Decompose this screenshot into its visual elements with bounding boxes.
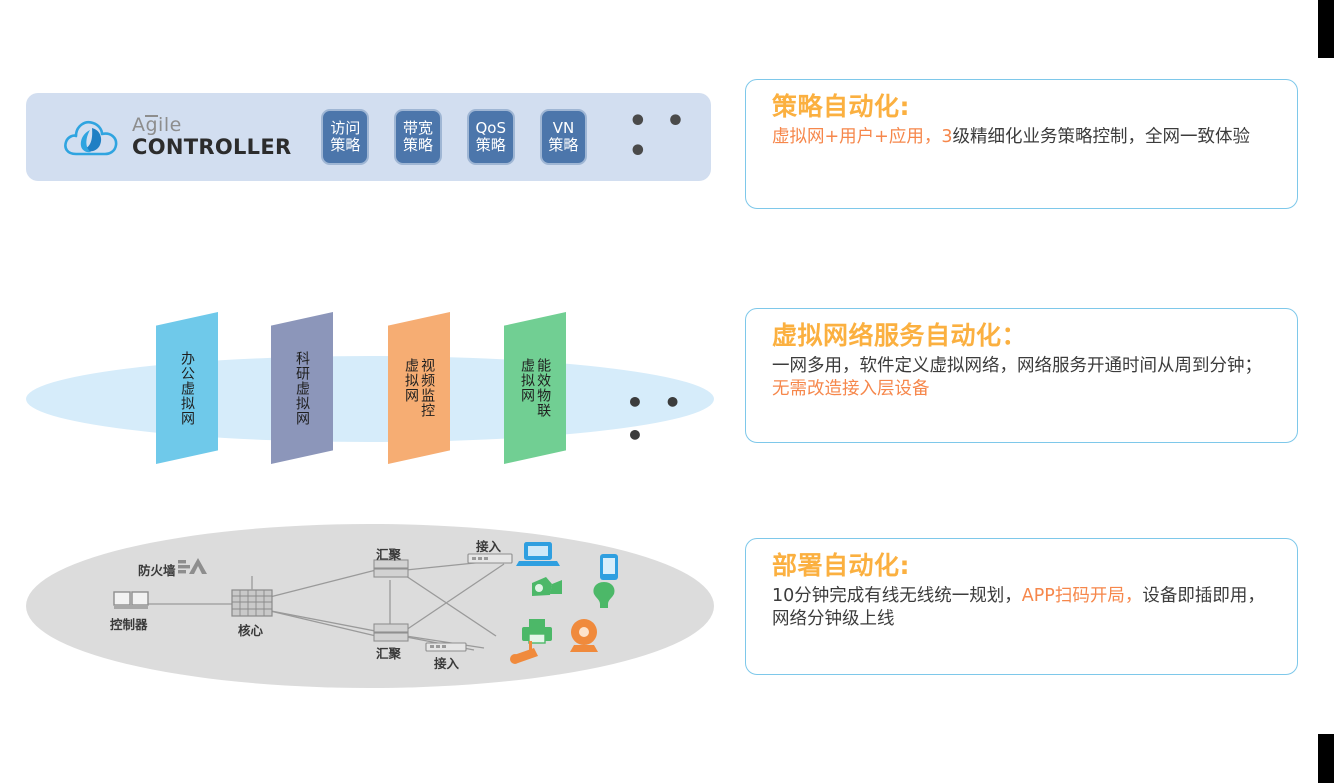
laptop-icon: [516, 542, 560, 566]
policy-box-vn-line2: 策略: [548, 137, 578, 154]
agile-controller-banner: Agile CONTROLLER 访问 策略 带宽 策略 QoS 策略: [26, 93, 711, 181]
card-virtual-network-automation: 虚拟网络服务自动化： 一网多用，软件定义虚拟网络，网络服务开通时间从周到分钟；无…: [745, 308, 1298, 443]
card-virtual-network-automation-body-rest: 一网多用，软件定义虚拟网络，网络服务开通时间从周到分钟；: [772, 356, 1262, 376]
right-edge-bar-top: [1318, 0, 1334, 58]
firewall-icon: [178, 558, 207, 574]
camera-icon: [532, 577, 562, 596]
right-edge-bar-bottom: [1318, 734, 1334, 783]
policy-box-qos-line1: QoS: [475, 120, 506, 137]
policy-box-vn[interactable]: VN 策略: [540, 109, 588, 165]
core-switch-icon: [232, 576, 272, 616]
policy-more-dots: • • •: [628, 107, 711, 167]
topology-label-firewall: 防火墙: [138, 560, 176, 579]
card-deployment-automation-body: 10分钟完成有线无线统一规划，APP扫码开局，设备即插即用，网络分钟级上线: [772, 585, 1275, 632]
topology-label-aggregation-upper: 汇聚: [376, 544, 401, 563]
policy-box-access-line1: 访问: [330, 120, 360, 137]
policy-box-qos[interactable]: QoS 策略: [467, 109, 515, 165]
policy-box-access[interactable]: 访问 策略: [321, 109, 369, 165]
vn-slab-video-monitor[interactable]: 视频监控 虚拟网: [388, 312, 450, 464]
aggregation-lower-icon: [374, 624, 408, 641]
topology-links: [146, 560, 504, 650]
printer-icon: [522, 619, 552, 643]
cloud-icon: [62, 114, 120, 160]
vn-slab-research-label: 科研虚拟网: [294, 328, 310, 448]
logo-text: Agile CONTROLLER: [132, 116, 291, 158]
topology-label-access-upper: 接入: [476, 536, 501, 555]
card-policy-automation: 策略自动化: 虚拟网+用户+应用，3级精细化业务策略控制，全网一致体验: [745, 79, 1298, 209]
webcam-icon: [570, 619, 598, 652]
topology-label-access-lower: 接入: [434, 653, 459, 672]
logo-brand-top: Agile: [132, 116, 182, 135]
policy-box-access-line2: 策略: [330, 137, 360, 154]
card-virtual-network-automation-body: 一网多用，软件定义虚拟网络，网络服务开通时间从周到分钟；无需改造接入层设备: [772, 355, 1275, 402]
card-policy-automation-body-rest: 级精细化业务策略控制，全网一致体验: [952, 127, 1250, 147]
agile-controller-logo: Agile CONTROLLER: [62, 114, 291, 160]
card-policy-automation-body: 虚拟网+用户+应用，3级精细化业务策略控制，全网一致体验: [772, 126, 1275, 149]
network-topology-diagram: 控制器 防火墙 核心 汇聚 汇聚 接入 接入: [26, 524, 716, 688]
topology-graphics: [26, 524, 716, 688]
vn-slab-office-label: 办公虚拟网: [179, 328, 195, 448]
card-policy-automation-title: 策略自动化:: [772, 92, 1275, 123]
card-virtual-network-automation-body-highlight: 无需改造接入层设备: [772, 379, 930, 399]
controller-icon: [114, 592, 148, 609]
policy-box-bandwidth-line1: 带宽: [403, 120, 433, 137]
policy-box-qos-line2: 策略: [476, 137, 506, 154]
slide-canvas: Agile CONTROLLER 访问 策略 带宽 策略 QoS 策略: [0, 0, 1334, 783]
card-deployment-automation-body-highlight: APP扫码开局，: [1022, 586, 1143, 606]
cctv-icon: [510, 641, 538, 664]
virtual-network-area: 办公虚拟网 科研虚拟网 视频监控 虚拟网 能效物联 虚拟网 • • •: [26, 300, 716, 495]
vn-slab-office[interactable]: 办公虚拟网: [156, 312, 218, 464]
topology-label-aggregation-lower: 汇聚: [376, 643, 401, 662]
access-upper-icon: [468, 554, 512, 563]
topology-label-controller: 控制器: [110, 614, 148, 633]
vn-slab-video-monitor-label: 视频监控 虚拟网: [403, 329, 435, 447]
policy-box-bandwidth-line2: 策略: [403, 137, 433, 154]
access-lower-icon: [426, 643, 466, 651]
policy-box-vn-line1: VN: [553, 120, 574, 137]
lightbulb-icon: [593, 582, 614, 608]
card-deployment-automation-body-part1: 10分钟完成有线无线统一规划，: [772, 586, 1022, 606]
card-deployment-automation: 部署自动化: 10分钟完成有线无线统一规划，APP扫码开局，设备即插即用，网络分…: [745, 538, 1298, 675]
vn-more-dots: • • •: [626, 386, 716, 452]
logo-brand-bottom: CONTROLLER: [132, 137, 291, 158]
policy-list: 访问 策略 带宽 策略 QoS 策略 VN 策略 • • •: [321, 107, 711, 167]
virtual-network-ellipse: [26, 356, 714, 442]
tablet-icon: [600, 554, 618, 580]
vn-slab-energy-iot[interactable]: 能效物联 虚拟网: [504, 312, 566, 464]
macron-mark: [145, 115, 158, 119]
policy-box-bandwidth[interactable]: 带宽 策略: [394, 109, 442, 165]
vn-slab-energy-iot-label: 能效物联 虚拟网: [519, 329, 551, 447]
card-virtual-network-automation-title: 虚拟网络服务自动化：: [772, 321, 1275, 352]
card-deployment-automation-title: 部署自动化:: [772, 551, 1275, 582]
vn-slab-research[interactable]: 科研虚拟网: [271, 312, 333, 464]
card-policy-automation-body-highlight: 虚拟网+用户+应用，3: [772, 127, 952, 147]
topology-label-core: 核心: [238, 620, 263, 639]
